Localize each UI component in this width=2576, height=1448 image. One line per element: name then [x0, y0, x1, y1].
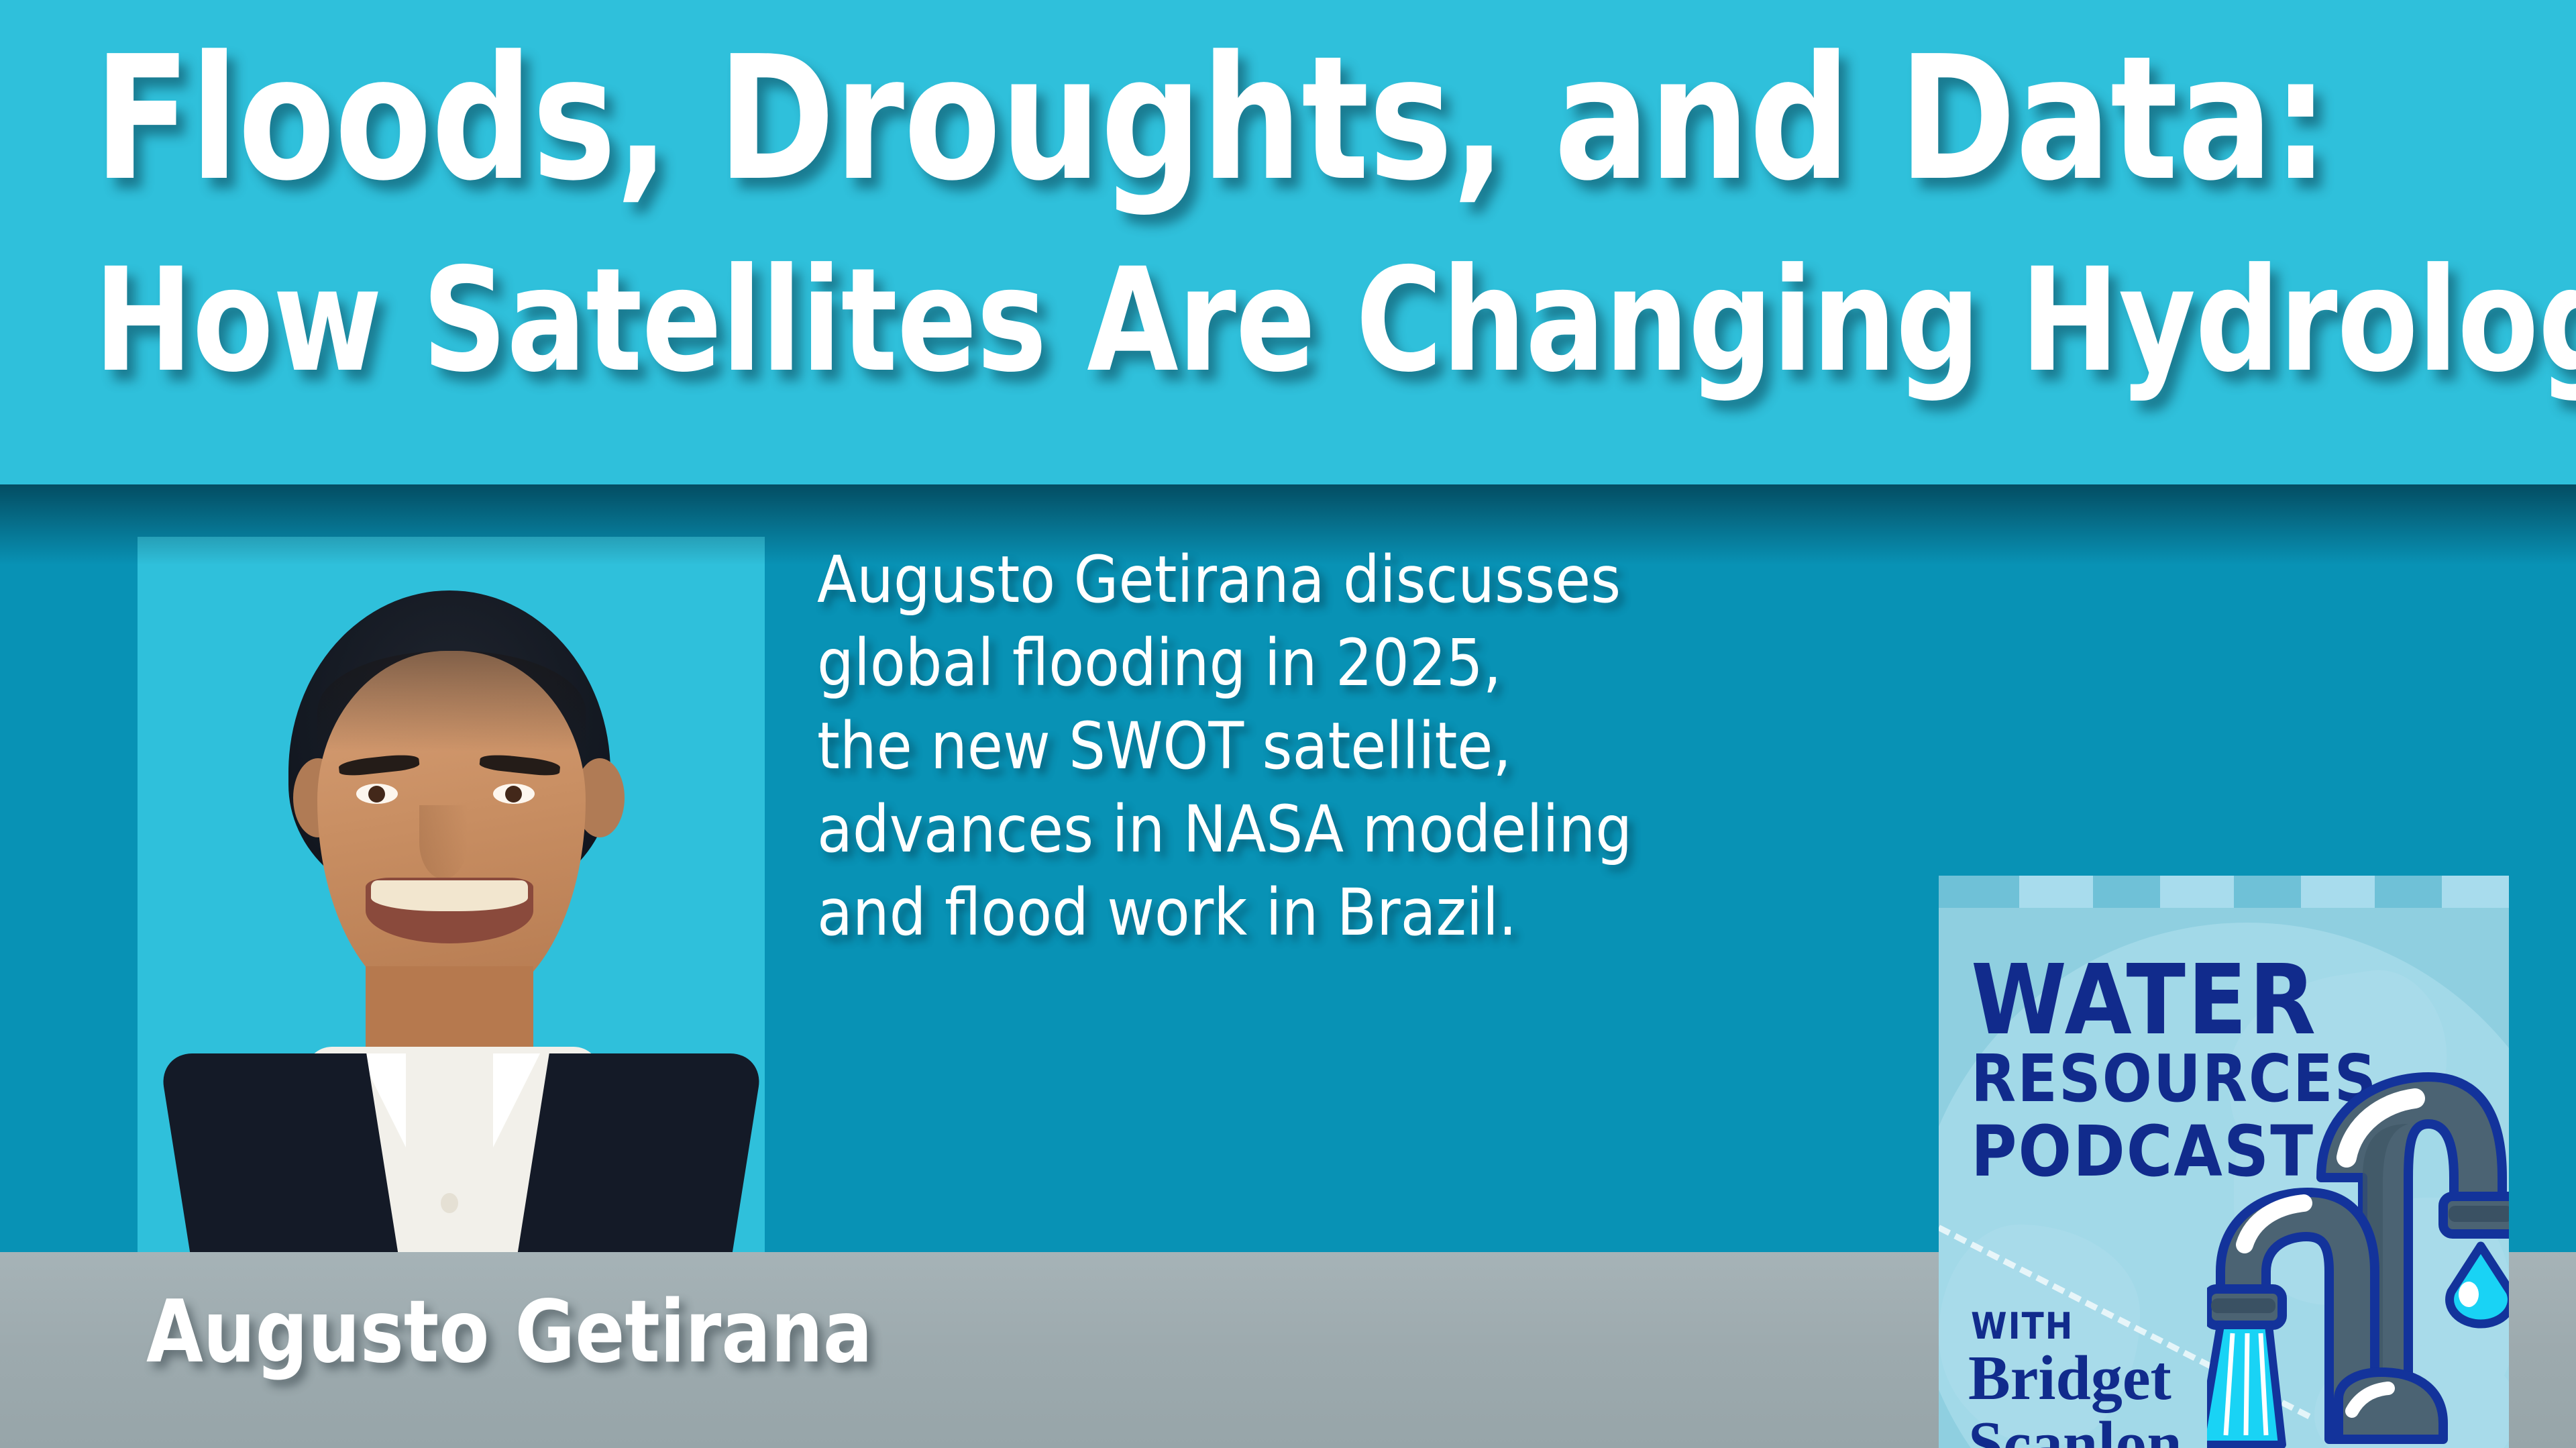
title-line-1: Floods, Droughts, and Data: [94, 19, 2328, 220]
faucet-front-collar-shade [2211, 1298, 2275, 1313]
episode-description: Augusto Getirana discusses global floodi… [817, 538, 1904, 954]
header-band: Floods, Droughts, and Data: How Satellit… [0, 0, 2576, 484]
portrait-jacket-left [158, 1053, 398, 1252]
logo-with-label: WITH [1971, 1305, 2074, 1347]
water-drop-highlight [2459, 1282, 2479, 1307]
portrait-eye-left [356, 784, 398, 804]
portrait-shirt-button [441, 1193, 458, 1213]
title-line-2: How Satellites Are Changing Hydrology [94, 220, 2328, 421]
portrait-eye-right [493, 784, 535, 804]
episode-title: Floods, Droughts, and Data: How Satellit… [94, 19, 2522, 421]
description-line-1: Augusto Getirana discusses [817, 538, 1904, 621]
logo-host-last: Scanlon [1968, 1411, 2182, 1448]
logo-host-first: Bridget [1968, 1345, 2182, 1411]
portrait-collar-right [493, 1053, 540, 1147]
water-stream-line-2 [2246, 1333, 2247, 1435]
portrait-jacket-right [517, 1053, 764, 1252]
portrait-nose [419, 805, 468, 879]
water-drop-icon [2450, 1246, 2509, 1324]
faucet-icon [2207, 1023, 2509, 1448]
podcast-episode-card: Floods, Droughts, and Data: How Satellit… [0, 0, 2576, 1448]
description-line-2: global flooding in 2025, [817, 621, 1904, 705]
logo-notch-1 [2019, 876, 2093, 908]
faucet-rear-collar-shade [2449, 1206, 2509, 1222]
logo-host-name: Bridget Scanlon [1968, 1345, 2182, 1448]
podcast-logo: WATER RESOURCES PODCAST WITH Bridget Sca… [1939, 876, 2509, 1448]
portrait-teeth [371, 880, 528, 911]
description-line-5: and flood work in Brazil. [817, 871, 1904, 954]
logo-notch-4 [2442, 876, 2509, 908]
logo-notch-2 [2160, 876, 2234, 908]
portrait-smile [366, 878, 533, 943]
description-line-3: the new SWOT satellite, [817, 705, 1904, 788]
guest-photo [138, 537, 765, 1252]
description-line-4: advances in NASA modeling [817, 788, 1904, 871]
logo-top-strip [1939, 876, 2509, 908]
guest-name-label: Augusto Getirana [146, 1286, 873, 1380]
logo-notch-3 [2301, 876, 2375, 908]
